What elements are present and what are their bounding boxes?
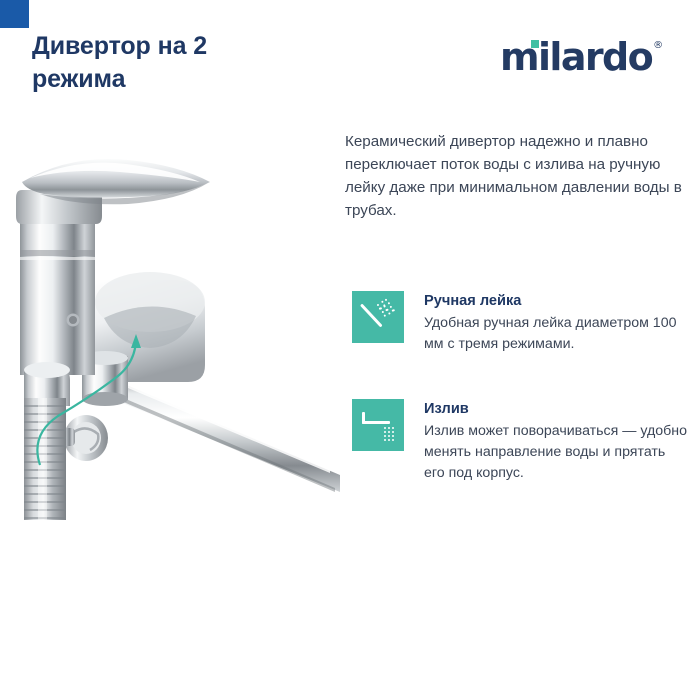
shower-head-shape [376, 298, 396, 318]
faucet-shower-hose [24, 398, 66, 520]
feature-title: Излив [424, 400, 688, 420]
spout-water-drops-shape [384, 427, 396, 445]
feature-description: Удобная ручная лейка диаметром 100 мм с … [424, 313, 688, 355]
infographic-page: Дивертор на 2 режима milardo ® Керамичес… [0, 0, 700, 700]
brand-wordmark: milardo [500, 38, 652, 76]
brand-dot-icon [531, 40, 539, 48]
intro-paragraph: Керамический дивертор надежно и плавно п… [345, 130, 685, 222]
brand-logo: milardo ® [500, 38, 663, 78]
spout-arm-shape [362, 421, 390, 424]
feature-title: Ручная лейка [424, 292, 688, 312]
feature-text-block: Излив Излив может поворачиваться — удобн… [424, 399, 688, 484]
product-photo-faucet [0, 120, 350, 520]
feature-text-block: Ручная лейка Удобная ручная лейка диамет… [424, 291, 688, 355]
registered-trademark-icon: ® [653, 40, 663, 51]
feature-item-hand-shower: Ручная лейка Удобная ручная лейка диамет… [352, 291, 688, 355]
spout-icon [352, 399, 404, 451]
decoration-top-left-square [0, 0, 29, 28]
feature-item-spout: Излив Излив может поворачиваться — удобн… [352, 399, 688, 484]
hand-shower-icon [352, 291, 404, 343]
page-title: Дивертор на 2 режима [32, 30, 292, 96]
faucet-body [20, 208, 95, 375]
feature-description: Излив может поворачиваться — удобно меня… [424, 421, 688, 484]
